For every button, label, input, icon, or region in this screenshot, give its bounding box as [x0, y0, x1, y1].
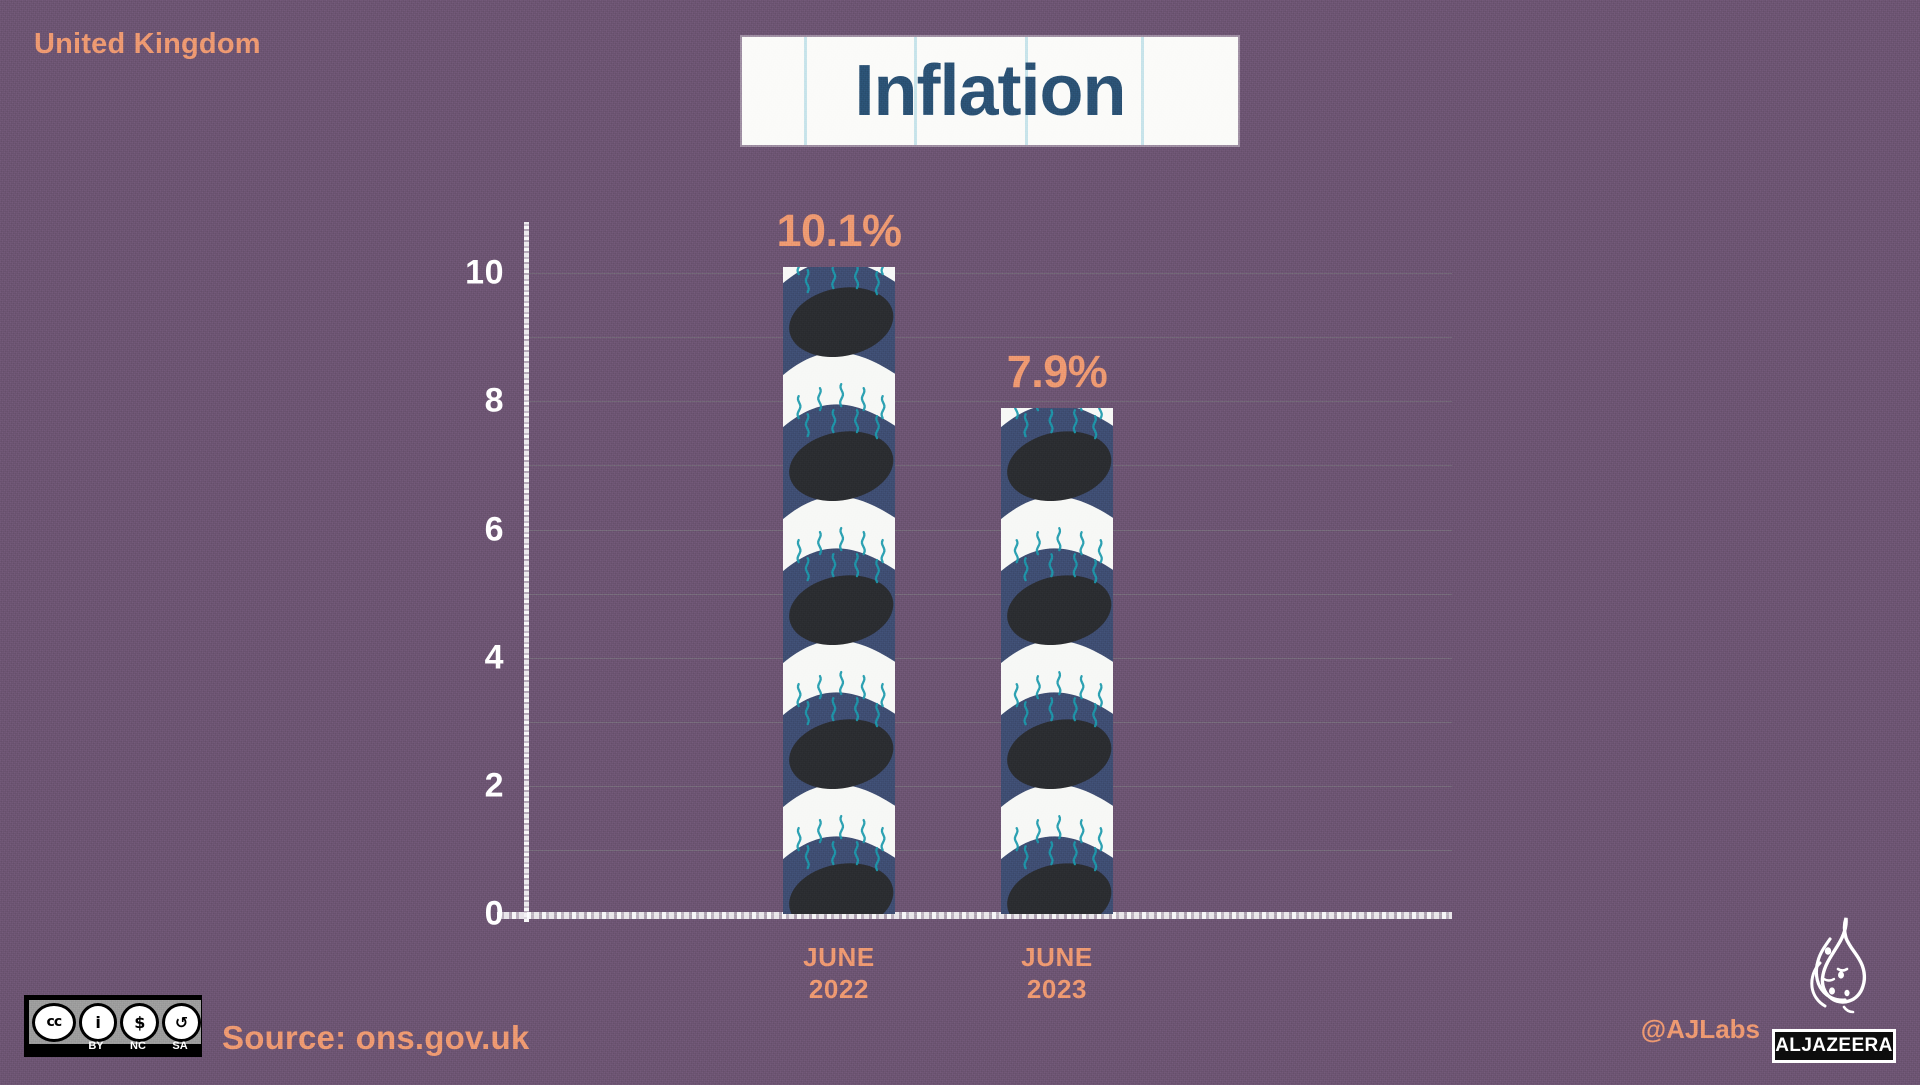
- category-line: JUNE: [1021, 942, 1093, 974]
- bar-value-label-1: 10.1%: [776, 205, 901, 257]
- y-axis-line: [524, 222, 529, 922]
- gridline: [527, 401, 1452, 402]
- category-line: 2022: [803, 974, 875, 1006]
- country-label: United Kingdom: [34, 28, 261, 61]
- gridline: [527, 722, 1452, 723]
- x-axis-category-label-1: JUNE2022: [803, 942, 875, 1005]
- category-line: JUNE: [803, 942, 875, 974]
- category-line: 2023: [1021, 974, 1093, 1006]
- bar-texture: [783, 267, 895, 914]
- y-tick-label-8: 8: [434, 382, 504, 421]
- cc-sa-label: SA: [159, 1040, 201, 1052]
- y-tick-label-0: 0: [434, 895, 504, 934]
- cc-nc-icon: $: [120, 1003, 159, 1042]
- bar-2: [1001, 408, 1113, 914]
- gridline: [527, 658, 1452, 659]
- gridline: [527, 850, 1452, 851]
- cc-nc-label: NC: [117, 1040, 159, 1052]
- chart-plot-area: 1086420 10.1%JUNE20227.9%JUNE2023: [0, 0, 1920, 1085]
- gridline: [527, 530, 1452, 531]
- bar-texture: [1001, 408, 1113, 914]
- cc-icon: cc: [32, 1003, 76, 1042]
- gridline: [527, 465, 1452, 466]
- cc-by-label: BY: [75, 1040, 117, 1052]
- ajlabs-handle: @AJLabs: [1641, 1014, 1760, 1045]
- y-tick-label-4: 4: [434, 638, 504, 677]
- cc-by-icon: i: [79, 1003, 118, 1042]
- bar-value-label-2: 7.9%: [1007, 346, 1108, 398]
- bar-1: [783, 267, 895, 914]
- aljazeera-wordmark: ALJAZEERA: [1772, 1029, 1896, 1063]
- creative-commons-badge: cc i $ ↺ BY NC SA: [24, 995, 202, 1057]
- gridline: [527, 273, 1452, 274]
- cc-sa-icon: ↺: [162, 1003, 201, 1042]
- x-axis-line: [497, 912, 1452, 919]
- x-axis-category-label-2: JUNE2023: [1021, 942, 1093, 1005]
- y-tick-label-6: 6: [434, 510, 504, 549]
- gridline: [527, 337, 1452, 338]
- page-title: Inflation: [855, 50, 1126, 132]
- gridline: [527, 594, 1452, 595]
- y-tick-label-2: 2: [434, 766, 504, 805]
- title-panel: Inflation: [742, 37, 1238, 145]
- aljazeera-logo: ALJAZEERA: [1772, 917, 1896, 1063]
- gridline: [527, 786, 1452, 787]
- infographic-canvas: United Kingdom Inflation 1086420 10.1%JU…: [0, 0, 1920, 1085]
- source-credit: Source: ons.gov.uk: [222, 1019, 529, 1057]
- aljazeera-flame-icon: [1786, 917, 1882, 1021]
- y-tick-label-10: 10: [434, 254, 504, 293]
